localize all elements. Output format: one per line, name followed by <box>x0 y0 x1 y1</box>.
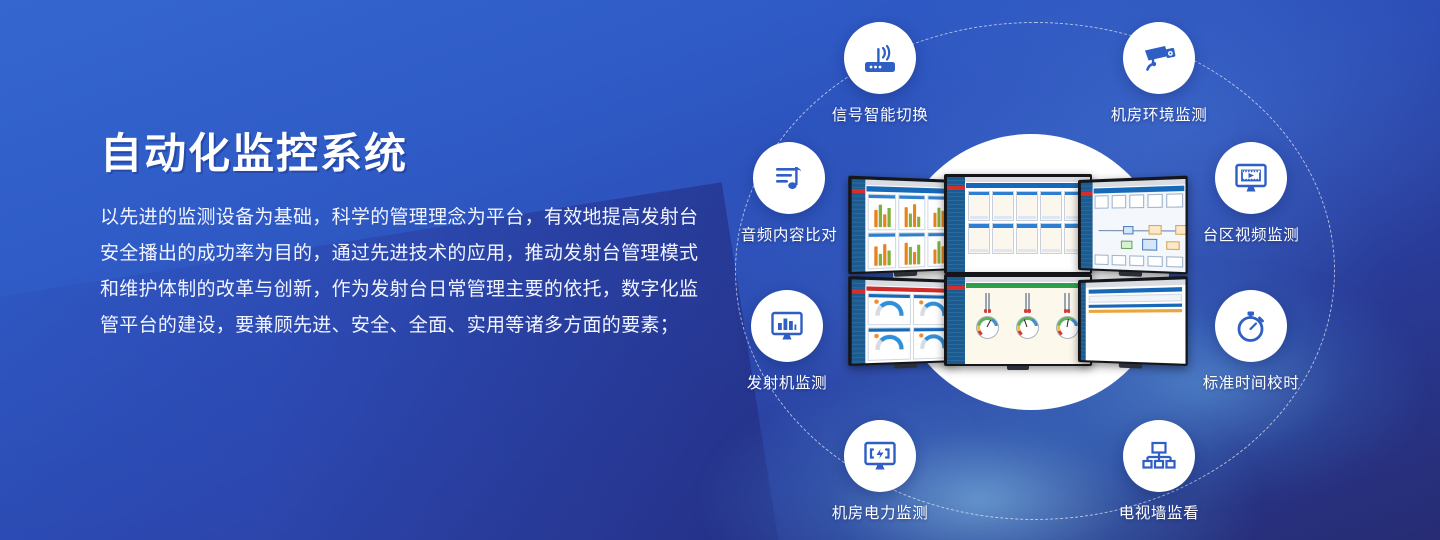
feature-label: 机房环境监测 <box>1084 103 1234 125</box>
feature-room-environment[interactable]: 机房环境监测 <box>1084 22 1234 125</box>
feature-icon-wrap[interactable] <box>1123 22 1195 94</box>
feature-area-video[interactable]: 台区视频监测 <box>1176 142 1326 245</box>
monitor-top-center <box>944 174 1092 274</box>
monitor-bottom-right <box>1078 276 1188 366</box>
feature-label: 信号智能切换 <box>805 103 955 125</box>
feature-label: 标准时间校时 <box>1176 371 1326 393</box>
data-card-grid <box>965 188 1089 272</box>
feature-icon-wrap[interactable] <box>844 420 916 492</box>
data-table-list <box>1086 284 1185 363</box>
feature-label: 电视墙监看 <box>1084 501 1234 523</box>
audio-note-icon <box>769 158 809 198</box>
process-flow-diagram <box>1093 190 1185 271</box>
monitor-wall <box>852 172 1182 366</box>
feature-label: 发射机监测 <box>712 371 862 393</box>
feature-time-sync[interactable]: 标准时间校时 <box>1176 290 1326 393</box>
monitor-bottom-center <box>944 274 1092 366</box>
monitor-power-icon <box>860 436 900 476</box>
feature-icon-wrap[interactable] <box>753 142 825 214</box>
feature-tv-wall[interactable]: 电视墙监看 <box>1084 420 1234 523</box>
security-camera-icon <box>1138 37 1180 79</box>
feature-icon-wrap[interactable] <box>1215 142 1287 214</box>
feature-icon-wrap[interactable] <box>844 22 916 94</box>
feature-label: 机房电力监测 <box>805 501 955 523</box>
stopwatch-icon <box>1231 306 1271 346</box>
feature-icon-wrap[interactable] <box>1215 290 1287 362</box>
screen-sidebar <box>947 177 966 272</box>
monitor-chart-icon <box>767 306 807 346</box>
feature-label: 台区视频监测 <box>1176 223 1326 245</box>
bar-chart-dashboard <box>866 191 956 271</box>
hero-banner: 自动化监控系统 以先进的监测设备为基础，科学的管理理念为平台，有效地提高发射台安… <box>0 0 1440 540</box>
monitor-bottom-left <box>848 276 958 366</box>
page-title: 自动化监控系统 <box>100 133 700 175</box>
hero-description: 以先进的监测设备为基础，科学的管理理念为平台，有效地提高发射台安全播出的成功率为… <box>100 200 700 344</box>
screen-sidebar <box>1080 182 1093 268</box>
network-tree-icon <box>1139 436 1179 476</box>
monitor-top-right <box>1078 176 1188 275</box>
feature-room-power[interactable]: 机房电力监测 <box>805 420 955 523</box>
feature-label: 音频内容比对 <box>714 223 864 245</box>
thermometer-dial-panel <box>965 288 1089 364</box>
router-icon <box>860 38 900 78</box>
feature-icon-wrap[interactable] <box>1123 420 1195 492</box>
feature-signal-switch[interactable]: 信号智能切换 <box>805 22 955 125</box>
monitor-top-left <box>848 176 958 275</box>
hero-copy: 自动化监控系统 以先进的监测设备为基础，科学的管理理念为平台，有效地提高发射台安… <box>100 133 700 344</box>
monitor-video-icon <box>1231 158 1271 198</box>
feature-icon-wrap[interactable] <box>751 290 823 362</box>
gauge-dashboard <box>866 290 956 363</box>
screen-sidebar <box>947 277 966 364</box>
feature-transmitter-monitor[interactable]: 发射机监测 <box>712 290 862 393</box>
feature-audio-compare[interactable]: 音频内容比对 <box>714 142 864 245</box>
